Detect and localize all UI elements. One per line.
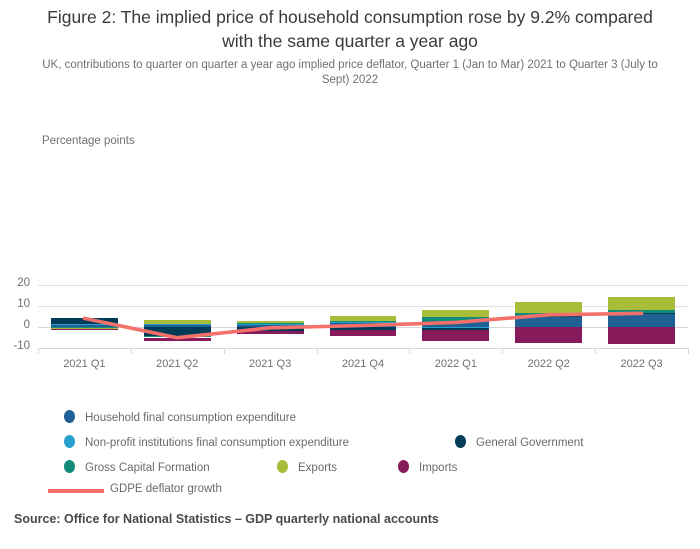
chart-figure: Figure 2: The implied price of household…: [0, 0, 700, 549]
bar-segment: [237, 323, 304, 324]
bar-segment: [608, 314, 675, 327]
bar-segment: [330, 321, 397, 322]
bar-segment: [237, 321, 304, 324]
source-note: Source: Office for National Statistics –…: [14, 512, 439, 526]
bar-segment: [237, 331, 304, 335]
legend-label-npish: Non-profit institutions final consumptio…: [85, 437, 349, 449]
chart-legend: Household final consumption expenditure …: [0, 400, 700, 505]
bar-segment: [608, 313, 675, 314]
bar-segment: [515, 327, 582, 343]
bar-segment: [422, 330, 489, 341]
bar-segment: [515, 313, 582, 316]
legend-swatch-gdpe-deflator-line: [48, 489, 104, 493]
page-title: Figure 2: The implied price of household…: [30, 5, 670, 53]
legend-item-exports[interactable]: Exports: [277, 460, 337, 474]
bar-segment: [515, 302, 582, 313]
legend-item-household[interactable]: Household final consumption expenditure: [64, 410, 296, 424]
bar-segment: [51, 329, 118, 330]
legend-swatch-imports: [398, 460, 409, 473]
chart-subtitle: UK, contributions to quarter on quarter …: [30, 58, 670, 88]
bar-segment: [515, 317, 582, 328]
legend-label-household: Household final consumption expenditure: [85, 412, 296, 424]
bar-segment: [608, 327, 675, 344]
legend-swatch-gross-capital-formation: [64, 460, 75, 473]
plot-area: Percentage points 20100-10 2021 Q12021 Q…: [0, 130, 700, 380]
bar-segment: [515, 316, 582, 317]
bar-segment: [144, 327, 211, 336]
legend-swatch-npish: [64, 435, 75, 448]
bar-segment: [422, 310, 489, 317]
legend-swatch-general-government: [455, 435, 466, 448]
legend-label-imports: Imports: [419, 462, 457, 474]
legend-item-general-government[interactable]: General Government: [455, 435, 583, 449]
bar-segment: [144, 338, 211, 342]
bar-segment: [330, 322, 397, 323]
bar-segment: [51, 324, 118, 325]
bar-segment: [330, 316, 397, 321]
legend-label-gdpe-deflator-line: GDPE deflator growth: [110, 483, 222, 495]
bar-segment: [144, 324, 211, 325]
bar-segment: [51, 318, 118, 325]
stacked-bars: [0, 130, 700, 380]
legend-swatch-household: [64, 410, 75, 423]
bar-segment: [608, 297, 675, 310]
bar-segment: [422, 317, 489, 320]
legend-item-gross-capital-formation[interactable]: Gross Capital Formation: [64, 460, 210, 474]
legend-item-imports[interactable]: Imports: [398, 460, 457, 474]
legend-swatch-exports: [277, 460, 288, 473]
legend-item-npish[interactable]: Non-profit institutions final consumptio…: [64, 435, 349, 449]
legend-label-exports: Exports: [298, 462, 337, 474]
bar-segment: [330, 330, 397, 336]
legend-label-gross-capital-formation: Gross Capital Formation: [85, 462, 210, 474]
bar-segment: [608, 310, 675, 313]
bar-segment: [144, 320, 211, 324]
legend-label-general-government: General Government: [476, 437, 583, 449]
